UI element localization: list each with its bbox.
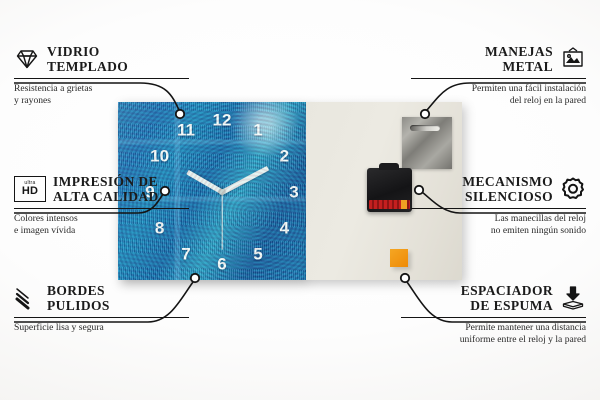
diamond-icon — [14, 46, 40, 72]
clock-numeral: 10 — [150, 148, 169, 165]
clock-numeral: 2 — [280, 148, 289, 165]
feature-title: BORDES PULIDOS — [47, 283, 110, 313]
mechanism-tab — [379, 163, 399, 170]
foam-spacer-pad — [390, 249, 408, 267]
divider — [14, 78, 189, 79]
feature-description: Superficie lisa y segura — [14, 322, 189, 334]
clock-minute-hand — [221, 166, 269, 194]
infographic-canvas: 121234567891011 — [0, 0, 600, 400]
feature-description: Las manecillas del reloj no emiten ningú… — [411, 213, 586, 237]
divider — [401, 317, 586, 318]
feature-description: Colores intensos e imagen vívida — [14, 213, 189, 237]
feature-description: Permiten una fácil instalación del reloj… — [411, 83, 586, 107]
ultra-hd-icon-main: HD — [22, 186, 38, 197]
clock-numeral: 11 — [177, 121, 195, 138]
divider — [411, 78, 586, 79]
gear-icon — [560, 176, 586, 202]
clock-numeral: 5 — [253, 246, 262, 263]
feature-description: Resistencia a grietas y rayones — [14, 83, 189, 107]
foam-spacer-icon — [560, 285, 586, 311]
feature-title: IMPRESIÓN DE ALTA CALIDAD — [53, 174, 159, 204]
feature-espaciador-espuma: ESPACIADOR DE ESPUMA Permite mantener un… — [401, 283, 586, 346]
clock-second-hand — [221, 192, 222, 250]
feature-title: MANEJAS METAL — [485, 44, 553, 74]
clock-mechanism-box — [367, 168, 412, 212]
clock-center-hub — [219, 189, 225, 195]
clock-numeral: 6 — [217, 256, 226, 273]
feature-impresion-alta-calidad: ultra HD IMPRESIÓN DE ALTA CALIDAD Color… — [14, 174, 189, 237]
clock-hour-hand — [186, 170, 223, 194]
feature-title: ESPACIADOR DE ESPUMA — [461, 283, 553, 313]
polished-edges-icon — [14, 285, 40, 311]
hanger-slot — [410, 125, 440, 131]
clock-numeral: 12 — [213, 112, 232, 129]
clock-numeral: 4 — [280, 220, 289, 237]
ultra-hd-icon: ultra HD — [14, 176, 46, 202]
feature-title: MECANISMO SILENCIOSO — [462, 174, 553, 204]
feature-description: Permite mantener una distancia uniforme … — [401, 322, 586, 346]
divider — [14, 317, 189, 318]
clock-numeral: 1 — [253, 121, 262, 138]
framed-picture-icon — [560, 46, 586, 72]
feature-manejas-metal: MANEJAS METAL Permiten una fácil instala… — [411, 44, 586, 107]
feature-bordes-pulidos: BORDES PULIDOS Superficie lisa y segura — [14, 283, 189, 334]
metal-hanger-plate — [402, 117, 452, 169]
feature-title: VIDRIO TEMPLADO — [47, 44, 128, 74]
feature-vidrio-templado: VIDRIO TEMPLADO Resistencia a grietas y … — [14, 44, 189, 107]
clock-numeral: 3 — [289, 184, 298, 201]
divider — [411, 208, 586, 209]
mechanism-battery-label — [369, 200, 410, 209]
clock-numeral: 7 — [181, 246, 190, 263]
divider — [14, 208, 189, 209]
feature-mecanismo-silencioso: MECANISMO SILENCIOSO Las manecillas del … — [411, 174, 586, 237]
